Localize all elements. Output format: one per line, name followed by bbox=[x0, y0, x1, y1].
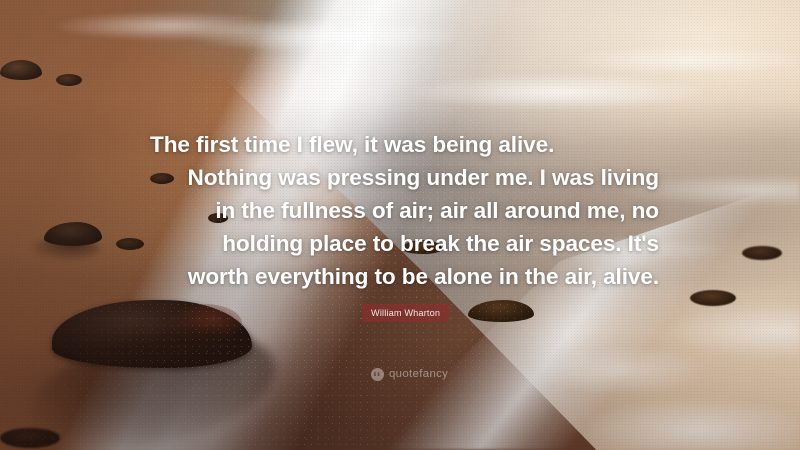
author-badge[interactable]: William Wharton bbox=[362, 304, 449, 322]
quote-line-3: in the fullness of air; air all around m… bbox=[150, 194, 659, 227]
quotefancy-watermark[interactable]: quotefancy bbox=[371, 368, 448, 381]
poster-content: The first time I flew, it was being aliv… bbox=[0, 0, 800, 450]
quote-line-1: The first time I flew, it was being aliv… bbox=[150, 128, 659, 161]
quote-mark-icon bbox=[371, 368, 384, 381]
author-name: William Wharton bbox=[371, 308, 440, 318]
quote-line-5: worth everything to be alone in the air,… bbox=[150, 260, 659, 293]
quote-line-2: Nothing was pressing under me. I was liv… bbox=[150, 161, 659, 194]
quote-poster: The first time I flew, it was being aliv… bbox=[0, 0, 800, 450]
quote-text-block: The first time I flew, it was being aliv… bbox=[150, 128, 659, 293]
quote-line-4: holding place to break the air spaces. I… bbox=[150, 227, 659, 260]
watermark-brand: quotefancy bbox=[389, 369, 448, 380]
